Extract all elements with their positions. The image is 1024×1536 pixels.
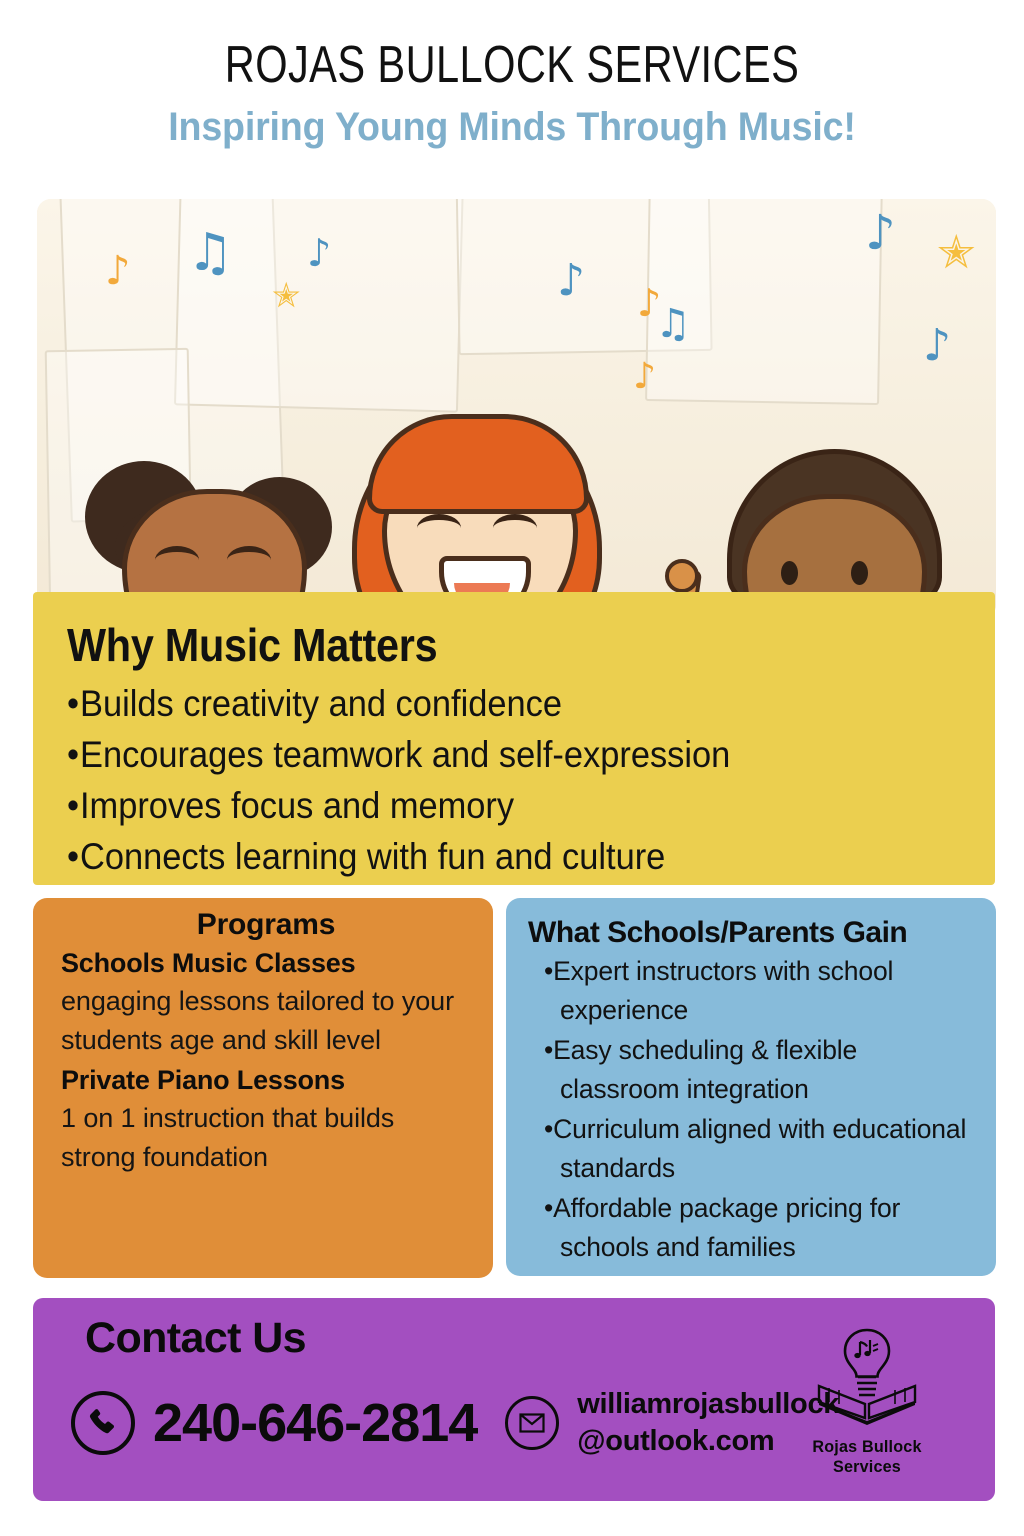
gain-list: Expert instructors with school experienc… [528, 952, 982, 1268]
eye [851, 561, 868, 585]
list-item: Improves focus and memory [67, 780, 898, 831]
lightbulb-book-icon [811, 1326, 923, 1430]
music-note-icon: ♫ [187, 227, 234, 279]
flyer-header: ROJAS BULLOCK SERVICES Inspiring Young M… [0, 0, 1024, 149]
list-item: Builds creativity and confidence [67, 678, 898, 729]
music-note-icon: ♪ [633, 359, 656, 395]
eye [417, 514, 461, 542]
phone-number[interactable]: 240-646-2814 [153, 1392, 477, 1454]
list-item: Affordable package pricing for schools a… [544, 1189, 982, 1268]
music-note-icon: ♪ [865, 209, 896, 257]
eye [227, 546, 271, 574]
programs-title: Programs [61, 908, 471, 942]
contact-details-row: 240-646-2814 williamrojasbullock @outloo… [71, 1386, 839, 1460]
program-description-schools: engaging lessons tailored to your studen… [61, 982, 471, 1060]
schools-parents-gain-section: What Schools/Parents Gain Expert instruc… [506, 898, 996, 1276]
drumstick-tip [665, 559, 699, 593]
eye [493, 514, 537, 542]
program-description-piano: 1 on 1 instruction that builds strong fo… [61, 1099, 471, 1177]
music-note-icon: ♪ [105, 251, 131, 291]
page-title: ROJAS BULLOCK SERVICES [102, 0, 921, 93]
why-music-matters-section: Why Music Matters Builds creativity and … [33, 592, 995, 885]
list-item: Expert instructors with school experienc… [544, 952, 982, 1031]
why-music-title: Why Music Matters [67, 618, 872, 672]
music-note-icon: ♪ [557, 259, 585, 303]
programs-section: Programs Schools Music Classes engaging … [33, 898, 493, 1278]
list-item: Curriculum aligned with educational stan… [544, 1110, 982, 1189]
program-heading-schools: Schools Music Classes [61, 944, 471, 982]
email-line-2: @outlook.com [577, 1425, 774, 1457]
company-logo: Rojas Bullock Services [787, 1326, 947, 1477]
list-item: Connects learning with fun and culture [67, 831, 898, 882]
phone-icon[interactable] [71, 1391, 135, 1455]
star-icon: ✭ [937, 229, 976, 275]
star-icon: ✭ [272, 279, 301, 313]
hero-illustration: ♪ ♫ ♪ ✭ ♪ ♪ ♫ ♪ ♪ ✭ ♪ ♪ [37, 199, 996, 619]
gain-title: What Schools/Parents Gain [528, 916, 982, 950]
list-item: Encourages teamwork and self-expression [67, 729, 898, 780]
contact-section: Contact Us 240-646-2814 williamrojasbull… [33, 1298, 995, 1501]
music-note-icon: ♫ [655, 304, 691, 344]
list-item: Easy scheduling & flexible classroom int… [544, 1031, 982, 1110]
music-note-icon: ♪ [307, 234, 331, 272]
envelope-icon[interactable] [505, 1396, 559, 1450]
eye [155, 546, 199, 574]
logo-caption: Rojas Bullock Services [791, 1437, 943, 1477]
program-heading-piano: Private Piano Lessons [61, 1061, 471, 1099]
page-subtitle: Inspiring Young Minds Through Music! [31, 93, 994, 149]
why-music-list: Builds creativity and confidence Encoura… [67, 678, 961, 882]
contact-title: Contact Us [85, 1314, 306, 1363]
music-note-icon: ♪ [923, 324, 951, 368]
eye [781, 561, 798, 585]
